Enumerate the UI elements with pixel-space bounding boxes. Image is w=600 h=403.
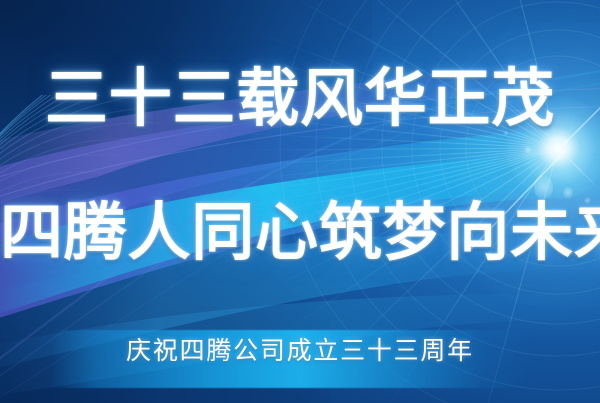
headline-line-2: 四腾人同心筑梦向未来 (0, 196, 600, 270)
headline-line-1: 三十三载风华正茂 (0, 62, 600, 136)
anniversary-banner: 三十三载风华正茂 四腾人同心筑梦向未来 庆祝四腾公司成立三十三周年 (0, 0, 600, 403)
bokeh-circle-4 (524, 146, 532, 154)
subtitle-text: 庆祝四腾公司成立三十三周年 (0, 336, 600, 368)
